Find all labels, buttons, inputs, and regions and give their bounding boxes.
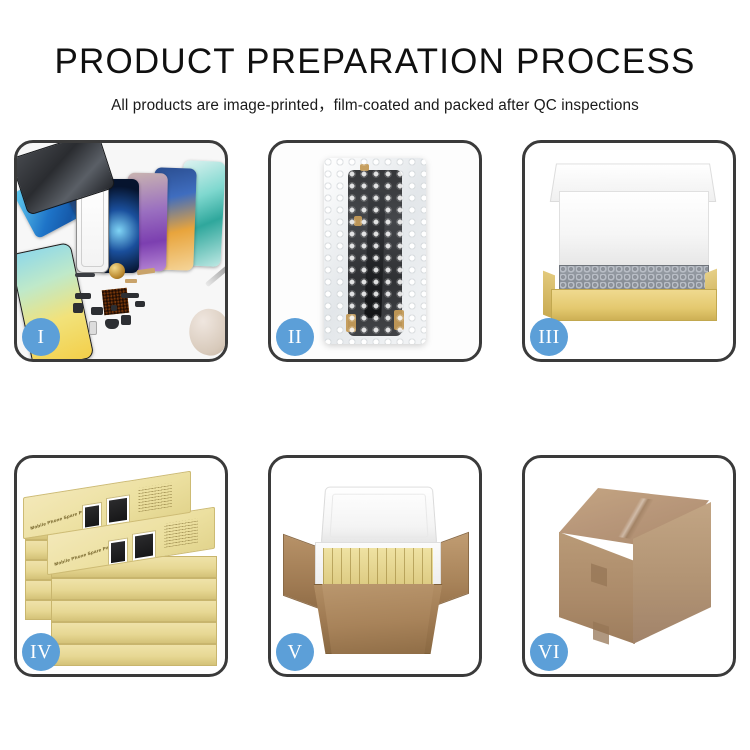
panel-foam-carton: V bbox=[268, 455, 482, 677]
page-subtitle: All products are image-printed，film-coat… bbox=[0, 93, 750, 115]
stacked-box bbox=[51, 600, 217, 622]
flex-cable bbox=[137, 268, 156, 275]
sim-tray bbox=[89, 321, 97, 335]
box-window bbox=[108, 537, 128, 566]
tape-tab bbox=[354, 216, 362, 226]
box-window bbox=[106, 494, 130, 526]
speaker-component bbox=[109, 263, 125, 279]
small-part bbox=[73, 303, 83, 313]
small-part bbox=[75, 273, 95, 277]
foam-pad bbox=[559, 191, 709, 269]
panel-stacked-boxes: Mobile Phone Spare Parts Mobile Phone Sp… bbox=[14, 455, 228, 677]
box-front-panel bbox=[551, 289, 717, 321]
tweezers-tool bbox=[205, 264, 225, 287]
panel-products: I bbox=[14, 140, 228, 362]
step-badge-6: VI bbox=[530, 633, 568, 671]
step-badge-2: II bbox=[276, 318, 314, 356]
panel-bubble-wrap: II bbox=[268, 140, 482, 362]
box-window bbox=[82, 502, 102, 531]
small-part bbox=[121, 315, 131, 325]
box-window bbox=[132, 530, 156, 562]
stacked-box bbox=[51, 644, 217, 666]
tape-tab bbox=[360, 164, 369, 171]
page-title: PRODUCT PREPARATION PROCESS bbox=[0, 42, 750, 82]
small-part bbox=[75, 293, 91, 299]
box-spec-text bbox=[164, 518, 198, 547]
camera-module bbox=[135, 301, 145, 307]
step-badge-3: III bbox=[530, 318, 568, 356]
small-part bbox=[91, 307, 103, 315]
process-steps-grid: I II bbox=[14, 140, 736, 677]
small-part bbox=[121, 293, 139, 298]
box-spec-text bbox=[138, 483, 172, 512]
step-badge-4: IV bbox=[22, 633, 60, 671]
box-label: Mobile Phone Spare Parts bbox=[54, 543, 116, 567]
step-badge-5: V bbox=[276, 633, 314, 671]
speaker-part bbox=[105, 319, 119, 329]
header: PRODUCT PREPARATION PROCESS All products… bbox=[0, 0, 750, 115]
flex-cable bbox=[125, 279, 137, 283]
foam-box-lid bbox=[321, 487, 438, 546]
panel-sealed-carton: VI bbox=[522, 455, 736, 677]
carton-tape-lower bbox=[593, 621, 609, 644]
sealed-carton bbox=[545, 488, 723, 648]
product-preparation-process-page: PRODUCT PREPARATION PROCESS All products… bbox=[0, 0, 750, 750]
tape-tab bbox=[346, 314, 356, 332]
chip-grid-component bbox=[102, 288, 129, 315]
step-badge-1: I bbox=[22, 318, 60, 356]
panel-inner-box: III bbox=[522, 140, 736, 362]
stacked-box bbox=[51, 578, 217, 600]
hand bbox=[185, 305, 225, 358]
small-part bbox=[111, 305, 117, 311]
yellow-boxes-inside bbox=[323, 548, 433, 586]
carton-front bbox=[317, 584, 439, 654]
bubble-wrap-bag bbox=[324, 158, 426, 344]
tape-tab bbox=[394, 310, 404, 330]
stacked-box bbox=[51, 622, 217, 644]
